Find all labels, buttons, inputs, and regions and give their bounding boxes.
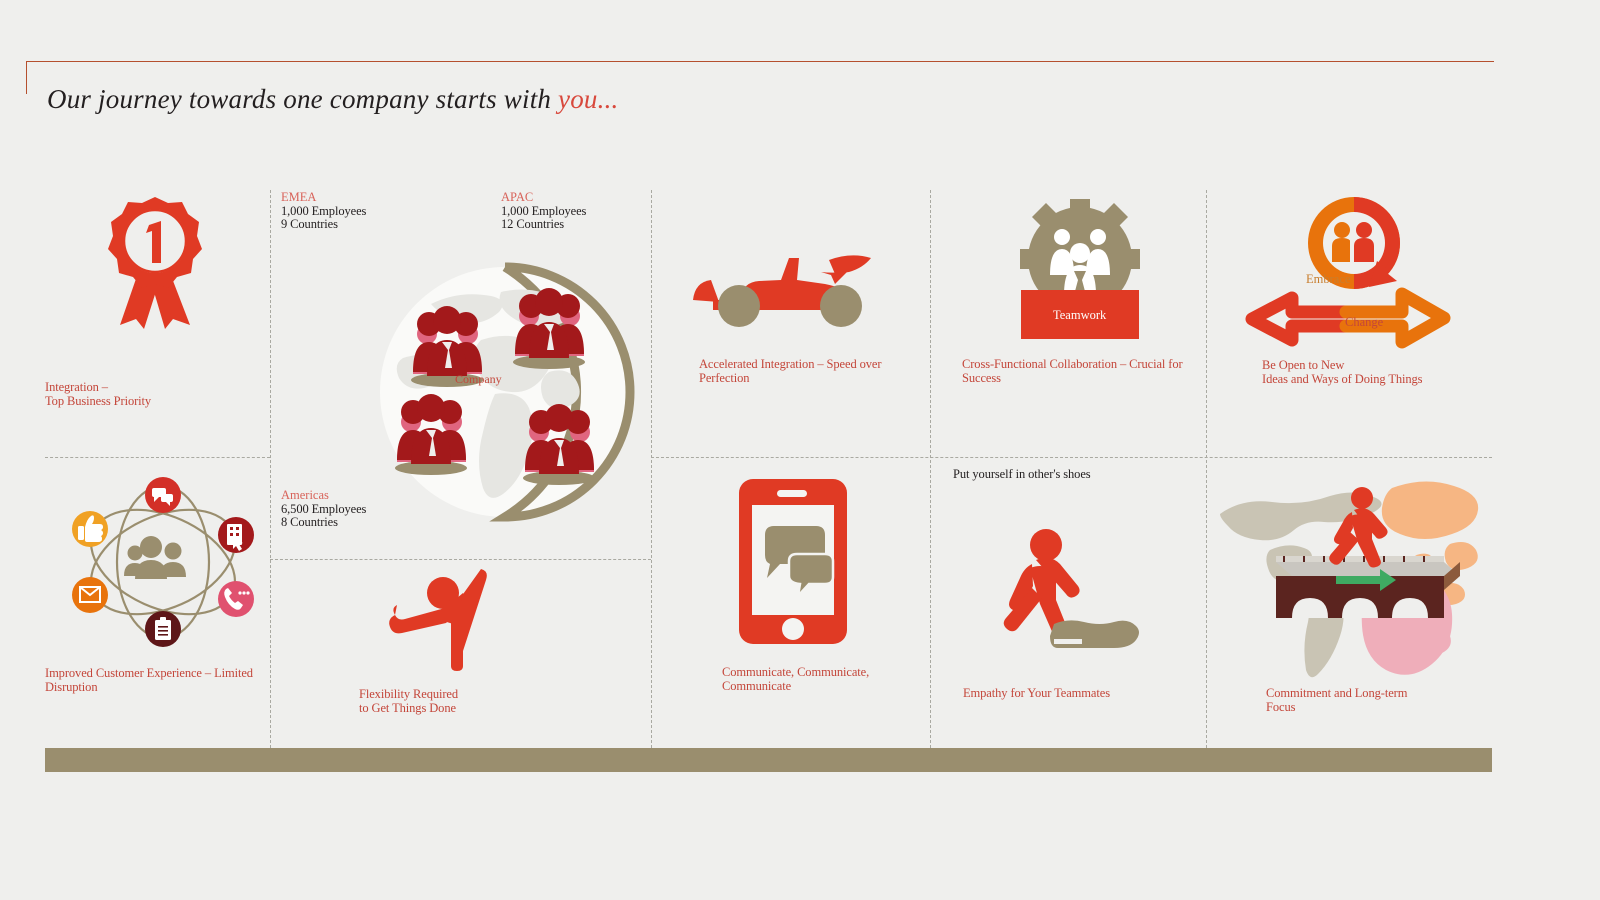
page-title-main: Our journey towards one company starts w… bbox=[47, 84, 558, 114]
collaboration-caption: Cross-Functional Collaboration – Crucial… bbox=[962, 357, 1212, 386]
customer-experience-caption-line2: Disruption bbox=[45, 680, 265, 694]
region-emea-countries: 9 Countries bbox=[281, 217, 338, 232]
panel-communicate: Communicate, Communicate, Communicate bbox=[651, 460, 930, 748]
region-apac-countries: 12 Countries bbox=[501, 217, 564, 232]
page-title: Our journey towards one company starts w… bbox=[47, 84, 618, 115]
smartphone-chat-icon bbox=[739, 479, 847, 644]
award-ribbon-icon bbox=[100, 195, 210, 330]
panel-commitment: Commitment and Long-term Focus bbox=[1206, 460, 1492, 748]
integration-caption-line2: Top Business Priority bbox=[45, 394, 260, 408]
flexibility-caption-line1: Flexibility Required bbox=[359, 687, 559, 701]
speed-caption: Accelerated Integration – Speed over Per… bbox=[699, 357, 934, 386]
commitment-caption-line2: Focus bbox=[1266, 700, 1496, 714]
embrace-word: Embrace bbox=[1306, 272, 1350, 287]
panel-change: Embrace Change Be Open to New Ideas and … bbox=[1206, 190, 1492, 457]
globe-teams-icon bbox=[373, 262, 643, 532]
communicate-caption-line1: Communicate, Communicate, bbox=[722, 665, 952, 679]
customer-orbit-icon bbox=[73, 477, 253, 647]
region-apac-name: APAC bbox=[501, 190, 533, 205]
commitment-caption-line1: Commitment and Long-term bbox=[1266, 686, 1496, 700]
collaboration-caption-line1: Cross-Functional Collaboration – Crucial… bbox=[962, 357, 1212, 371]
commitment-caption: Commitment and Long-term Focus bbox=[1266, 686, 1496, 715]
world-map-bridge-icon bbox=[1214, 480, 1482, 675]
accent-left-line bbox=[26, 61, 27, 94]
walking-figure-shoe-icon bbox=[996, 526, 1146, 651]
customer-experience-caption: Improved Customer Experience – Limited D… bbox=[45, 666, 265, 695]
flexibility-caption-line2: to Get Things Done bbox=[359, 701, 559, 715]
empathy-caption: Empathy for Your Teammates bbox=[963, 686, 1203, 700]
region-emea-name: EMEA bbox=[281, 190, 316, 205]
panel-collaboration: Teamwork Cross-Functional Collaboration … bbox=[930, 190, 1206, 457]
bottom-bar bbox=[45, 748, 1492, 772]
region-americas-name: Americas bbox=[281, 488, 329, 503]
accent-top-line bbox=[26, 61, 1494, 62]
globe-center-label: Company bbox=[455, 372, 502, 387]
teamwork-banner-label: Teamwork bbox=[1053, 308, 1106, 323]
flexibility-caption: Flexibility Required to Get Things Done bbox=[359, 687, 559, 716]
empathy-heading: Put yourself in other's shoes bbox=[953, 467, 1091, 482]
panel-flexibility: Flexibility Required to Get Things Done bbox=[270, 560, 651, 748]
panel-globe: Company EMEA 1,000 Employees 9 Countries… bbox=[270, 190, 651, 560]
panel-empathy: Put yourself in other's shoes Empathy fo… bbox=[930, 460, 1206, 748]
slide-canvas: Our journey towards one company starts w… bbox=[0, 0, 1600, 900]
divider-horizontal-left bbox=[45, 457, 270, 458]
collaboration-caption-line2: Success bbox=[962, 371, 1212, 385]
change-caption-line1: Be Open to New bbox=[1262, 358, 1502, 372]
change-caption: Be Open to New Ideas and Ways of Doing T… bbox=[1262, 358, 1502, 387]
integration-caption: Integration – Top Business Priority bbox=[45, 380, 260, 409]
panel-speed: Accelerated Integration – Speed over Per… bbox=[651, 190, 930, 457]
speed-caption-line2: Perfection bbox=[699, 371, 934, 385]
customer-experience-caption-line1: Improved Customer Experience – Limited bbox=[45, 666, 265, 680]
race-car-icon bbox=[693, 248, 893, 333]
change-caption-line2: Ideas and Ways of Doing Things bbox=[1262, 372, 1502, 386]
speed-caption-line1: Accelerated Integration – Speed over bbox=[699, 357, 934, 371]
change-word: Change bbox=[1345, 315, 1383, 330]
panel-integration: Integration – Top Business Priority bbox=[45, 190, 270, 455]
panel-customer-experience: Improved Customer Experience – Limited D… bbox=[45, 470, 270, 730]
yoga-figure-icon bbox=[385, 565, 505, 670]
page-title-accent: you... bbox=[558, 84, 618, 114]
divider-horizontal-right bbox=[651, 457, 1492, 458]
communicate-caption: Communicate, Communicate, Communicate bbox=[722, 665, 952, 694]
integration-caption-line1: Integration – bbox=[45, 380, 260, 394]
empathy-caption-line1: Empathy for Your Teammates bbox=[963, 686, 1203, 700]
communicate-caption-line2: Communicate bbox=[722, 679, 952, 693]
region-americas-countries: 8 Countries bbox=[281, 515, 338, 530]
